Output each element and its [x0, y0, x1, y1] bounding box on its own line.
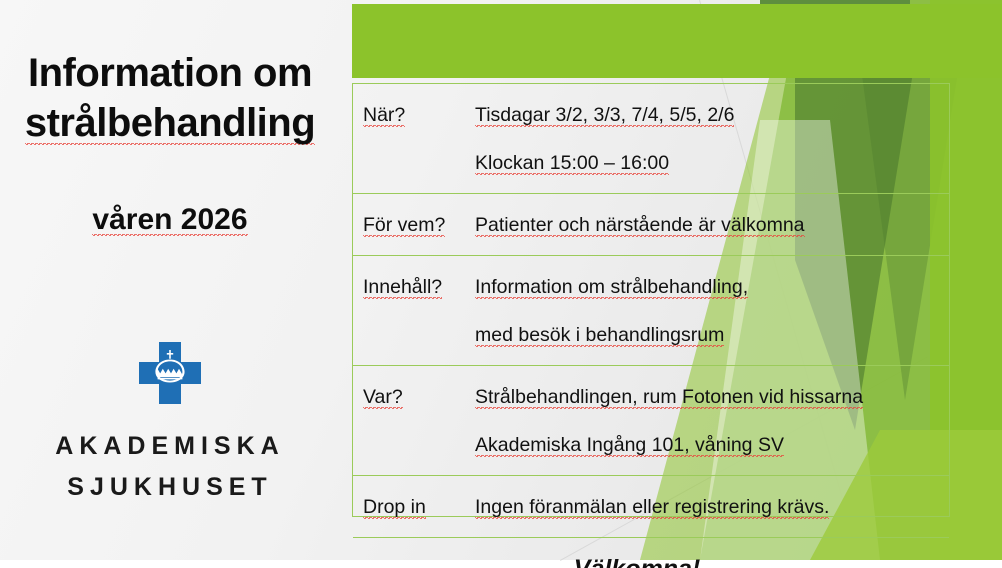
table-row-key: För vem? [353, 194, 475, 255]
table-row-value-line: Information om strålbehandling, [475, 263, 949, 311]
table-row: Välkomna! [353, 537, 949, 568]
table-row-value: Tisdagar 3/2, 3/3, 7/4, 5/5, 2/6Klockan … [475, 84, 949, 193]
table-row-value: Strålbehandlingen, rum Fotonen vid hissa… [475, 366, 949, 475]
table-row-value-line: Akademiska Ingång 101, våning SV [475, 421, 949, 469]
table-row-value-line: Klockan 15:00 – 16:00 [475, 139, 949, 187]
title-line-1: Information om [28, 51, 312, 95]
table-row-value-text: Ingen föranmälan eller registrering kräv… [475, 496, 829, 520]
table-row: Var?Strålbehandlingen, rum Fotonen vid h… [353, 365, 949, 475]
slide-canvas: Information om strålbehandling våren 202… [0, 0, 1002, 568]
table-row-value-line: Strålbehandlingen, rum Fotonen vid hissa… [475, 373, 949, 421]
table-row-key: Drop in [353, 476, 475, 537]
table-row-value-text: Strålbehandlingen, rum Fotonen vid hissa… [475, 386, 863, 410]
table-row-value-line: Tisdagar 3/2, 3/3, 7/4, 5/5, 2/6 [475, 91, 949, 139]
table-row: När?Tisdagar 3/2, 3/3, 7/4, 5/5, 2/6Kloc… [353, 83, 949, 193]
logo-text-line-1: AKADEMISKA [0, 432, 340, 461]
green-header-bar [352, 4, 1002, 78]
table-row-value-text: Akademiska Ingång 101, våning SV [475, 434, 784, 458]
table-row-value-text: Klockan 15:00 – 16:00 [475, 152, 669, 176]
table-row-value-text: med besök i behandlingsrum [475, 324, 724, 348]
table-row-key-text: För vem? [363, 214, 445, 238]
logo-text-line-2: SJUKHUSET [0, 473, 340, 502]
table-row: Drop inIngen föranmälan eller registreri… [353, 475, 949, 537]
table-row-key-text: Drop in [363, 496, 426, 520]
table-row-value-line: Välkomna! [475, 545, 799, 568]
table-row: Innehåll?Information om strålbehandling,… [353, 255, 949, 365]
table-row-value-text: Tisdagar 3/2, 3/3, 7/4, 5/5, 2/6 [475, 104, 734, 128]
info-table: När?Tisdagar 3/2, 3/3, 7/4, 5/5, 2/6Kloc… [352, 83, 950, 517]
table-row-value: Ingen föranmälan eller registrering kräv… [475, 476, 949, 537]
subtitle-text: våren 2026 [92, 203, 247, 238]
page-subtitle: våren 2026 [0, 203, 340, 237]
hospital-logo: AKADEMISKA SJUKHUSET [0, 340, 340, 502]
table-row-key: Innehåll? [353, 256, 475, 317]
page-title: Information om strålbehandling [0, 48, 340, 148]
table-row-key: Var? [353, 366, 475, 427]
medical-cross-with-crown-orb-icon [133, 340, 207, 414]
title-line-2: strålbehandling [25, 101, 315, 147]
table-row-value: Välkomna! [475, 538, 949, 568]
table-row-value-line: Ingen föranmälan eller registrering kräv… [475, 483, 949, 531]
table-row-value-text: Välkomna! [574, 555, 700, 568]
table-row-key-text: Innehåll? [363, 276, 442, 300]
table-row: För vem?Patienter och närstående är välk… [353, 193, 949, 255]
table-row-value-text: Information om strålbehandling, [475, 276, 748, 300]
table-row-key-text: Var? [363, 386, 403, 410]
table-row-value: Information om strålbehandling,med besök… [475, 256, 949, 365]
table-row-value-line: Patienter och närstående är välkomna [475, 201, 949, 249]
table-row-value: Patienter och närstående är välkomna [475, 194, 949, 255]
table-row-key-text: När? [363, 104, 405, 128]
table-row-key [353, 538, 475, 551]
table-row-value-line: med besök i behandlingsrum [475, 311, 949, 359]
table-row-value-text: Patienter och närstående är välkomna [475, 214, 805, 238]
table-row-key: När? [353, 84, 475, 145]
